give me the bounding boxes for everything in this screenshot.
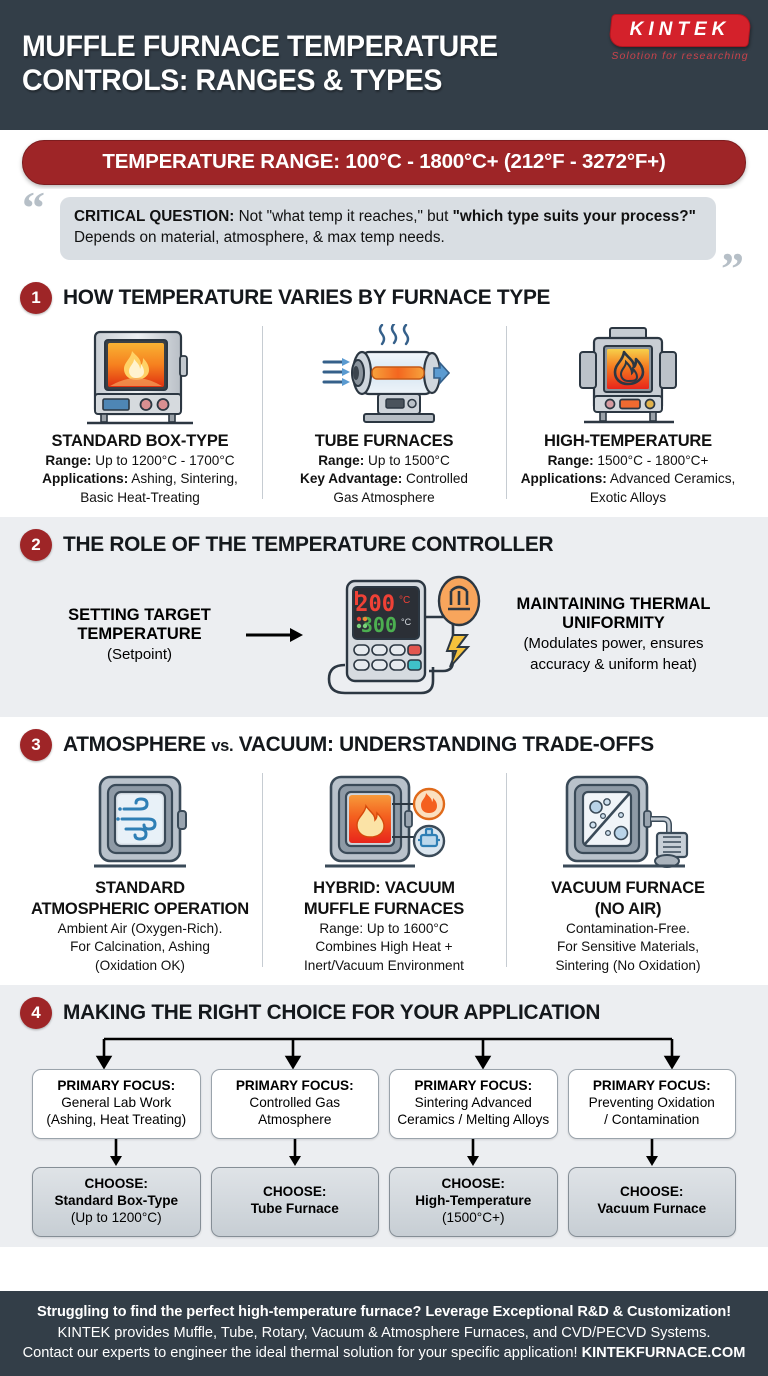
box-heading: CHOOSE: <box>395 1176 552 1193</box>
line-label: Applications: <box>42 471 128 486</box>
box-line1: Preventing Oxidation <box>574 1095 731 1112</box>
svg-text:°C: °C <box>399 595 410 606</box>
card-line: Ambient Air (Oxygen-Rich). <box>28 920 252 938</box>
box-line1: Tube Furnace <box>217 1201 374 1218</box>
section-making-right-choice: 4 MAKING THE RIGHT CHOICE FOR YOUR APPLI… <box>0 985 768 1247</box>
svg-text:°C: °C <box>401 617 412 627</box>
line-value: Ashing, Sintering, <box>128 471 238 486</box>
box-line1: Vacuum Furnace <box>574 1201 731 1218</box>
card-line: Range: 1500°C - 1800°C+ <box>516 452 740 470</box>
section-3-badge: 3 <box>20 729 52 761</box>
down-arrow-icon <box>211 1139 380 1167</box>
card-line: (Oxidation OK) <box>28 957 252 975</box>
section-1-title: HOW TEMPERATURE VARIES BY FURNACE TYPE <box>63 285 550 310</box>
card-line: Basic Heat-Treating <box>28 489 252 507</box>
card-line: For Sensitive Materials, <box>516 938 740 956</box>
card-line: Combines High Heat + <box>272 938 496 956</box>
line-label: Range: <box>45 453 91 468</box>
choose-box[interactable]: CHOOSE: Standard Box-Type (Up to 1200°C) <box>32 1167 201 1237</box>
quote-close-icon: ” <box>721 246 744 292</box>
thermal-uniformity-label: MAINTAINING THERMAL UNIFORMITY (Modulate… <box>496 595 731 674</box>
section-4-header: 4 MAKING THE RIGHT CHOICE FOR YOUR APPLI… <box>20 997 750 1029</box>
primary-focus-box[interactable]: PRIMARY FOCUS: General Lab Work (Ashing,… <box>32 1069 201 1139</box>
temperature-range-banner-wrap: TEMPERATURE RANGE: 100°C - 1800°C+ (212°… <box>0 130 768 189</box>
card-title-line1: STANDARD <box>28 879 252 898</box>
card-line: Sintering (No Oxidation) <box>516 957 740 975</box>
page-title: MUFFLE FURNACE TEMPERATURE CONTROLS: RAN… <box>22 30 498 97</box>
line-label: Range: <box>548 453 594 468</box>
logo-plate: KINTEK <box>608 14 751 47</box>
setpoint-title-line1: SETTING TARGET <box>37 606 242 625</box>
quote-bold2: "which type suits your process?" <box>453 208 696 225</box>
card-line: Key Advantage: Controlled <box>272 470 496 488</box>
footer: Struggling to find the perfect high-temp… <box>0 1291 768 1376</box>
card-title-line2: MUFFLE FURNACES <box>272 900 496 919</box>
primary-focus-box[interactable]: PRIMARY FOCUS: Controlled Gas Atmosphere <box>211 1069 380 1139</box>
line-value: Controlled <box>402 471 468 486</box>
card-line: Applications: Advanced Ceramics, <box>516 470 740 488</box>
primary-focus-box[interactable]: PRIMARY FOCUS: Preventing Oxidation / Co… <box>568 1069 737 1139</box>
line-value: Advanced Ceramics, <box>607 471 735 486</box>
section-2-badge: 2 <box>20 529 52 561</box>
card-line: Inert/Vacuum Environment <box>272 957 496 975</box>
logo-wordmark: KINTEK <box>621 19 739 41</box>
card-line: For Calcination, Ashing <box>28 938 252 956</box>
box-heading: CHOOSE: <box>38 1176 195 1193</box>
box-line1: General Lab Work <box>38 1095 195 1112</box>
vacuum-furnace-icon <box>516 769 740 877</box>
title-part-main: ATMOSPHERE <box>63 732 211 756</box>
critical-question-block: “ ” CRITICAL QUESTION: Not "what temp it… <box>0 189 768 270</box>
infographic-page: MUFFLE FURNACE TEMPERATURE CONTROLS: RAN… <box>0 0 768 1376</box>
line-label: Applications: <box>521 471 607 486</box>
card-standard-atmospheric: STANDARD ATMOSPHERIC OPERATION Ambient A… <box>18 767 262 975</box>
box-line2: (1500°C+) <box>395 1210 552 1227</box>
choose-box[interactable]: CHOOSE: Vacuum Furnace <box>568 1167 737 1237</box>
setpoint-subtitle: (Setpoint) <box>37 646 242 663</box>
quote-text: CRITICAL QUESTION: Not "what temp it rea… <box>60 197 716 260</box>
uniformity-title-line1: MAINTAINING THERMAL <box>496 595 731 614</box>
box-heading: CHOOSE: <box>574 1184 731 1201</box>
card-title: TUBE FURNACES <box>272 432 496 451</box>
section-atmosphere-vs-vacuum: 3 ATMOSPHERE vs. VACUUM: UNDERSTANDING T… <box>0 717 768 985</box>
controller-unit-icon: 200 °C 300 °C <box>312 569 492 701</box>
setpoint-label: SETTING TARGET TEMPERATURE (Setpoint) <box>37 606 242 663</box>
card-title-line2: (NO AIR) <box>516 900 740 919</box>
atmosphere-cards: STANDARD ATMOSPHERIC OPERATION Ambient A… <box>18 767 750 975</box>
line-value: 1500°C - 1800°C+ <box>594 453 709 468</box>
box-heading: PRIMARY FOCUS: <box>574 1078 731 1095</box>
box-heading: CHOOSE: <box>217 1184 374 1201</box>
line-value: Up to 1200°C - 1700°C <box>91 453 234 468</box>
section-4-title: MAKING THE RIGHT CHOICE FOR YOUR APPLICA… <box>63 1000 600 1025</box>
box-furnace-icon <box>28 322 252 430</box>
setpoint-title-line2: TEMPERATURE <box>37 625 242 644</box>
hybrid-vacuum-furnace-icon <box>272 769 496 877</box>
logo-tagline: Solotion for researching <box>610 50 750 62</box>
box-line2: (Ashing, Heat Treating) <box>38 1112 195 1129</box>
card-line: Range: Up to 1500°C <box>272 452 496 470</box>
footer-line2: KINTEK provides Muffle, Tube, Rotary, Va… <box>18 1325 750 1341</box>
card-high-temperature: HIGH-TEMPERATURE Range: 1500°C - 1800°C+… <box>506 320 750 507</box>
section-3-header: 3 ATMOSPHERE vs. VACUUM: UNDERSTANDING T… <box>20 729 750 761</box>
quote-part3: Depends on material, atmosphere, & max t… <box>74 229 445 246</box>
section-furnace-types: 1 HOW TEMPERATURE VARIES BY FURNACE TYPE <box>0 270 768 517</box>
footer-website[interactable]: KINTEKFURNACE.COM <box>582 1345 746 1361</box>
flow-top-connector <box>18 1035 750 1069</box>
box-heading: PRIMARY FOCUS: <box>395 1078 552 1095</box>
primary-focus-row: PRIMARY FOCUS: General Lab Work (Ashing,… <box>32 1069 736 1139</box>
footer-line1: Struggling to find the perfect high-temp… <box>18 1304 750 1320</box>
page-title-line2: CONTROLS: RANGES & TYPES <box>22 64 498 98</box>
tube-furnace-icon <box>272 322 496 430</box>
title-part-vs: vs. <box>211 736 233 755</box>
high-temp-furnace-icon <box>516 322 740 430</box>
card-line: Gas Atmosphere <box>272 489 496 507</box>
box-line1: Controlled Gas <box>217 1095 374 1112</box>
card-tube-furnaces: TUBE FURNACES Range: Up to 1500°C Key Ad… <box>262 320 506 507</box>
choose-flow: CHOOSE: Standard Box-Type (Up to 1200°C)… <box>18 1167 750 1237</box>
card-title-line2: ATMOSPHERIC OPERATION <box>28 900 252 919</box>
section-4-badge: 4 <box>20 997 52 1029</box>
card-line: Applications: Ashing, Sintering, <box>28 470 252 488</box>
box-line2: / Contamination <box>574 1112 731 1129</box>
arrow-right-icon <box>246 627 308 643</box>
primary-focus-box[interactable]: PRIMARY FOCUS: Sintering Advanced Cerami… <box>389 1069 558 1139</box>
card-line: Contamination-Free. <box>516 920 740 938</box>
quote-lead: CRITICAL QUESTION: <box>74 208 234 225</box>
title-part-rest: VACUUM: UNDERSTANDING TRADE-OFFS <box>233 732 654 756</box>
card-line: Range: Up to 1600°C <box>272 920 496 938</box>
card-title-line1: VACUUM FURNACE <box>516 879 740 898</box>
card-title-line1: HYBRID: VACUUM <box>272 879 496 898</box>
box-line1: Sintering Advanced <box>395 1095 552 1112</box>
card-vacuum-furnace: VACUUM FURNACE (NO AIR) Contamination-Fr… <box>506 767 750 975</box>
air-furnace-icon <box>28 769 252 877</box>
section-1-badge: 1 <box>20 282 52 314</box>
card-title: STANDARD BOX-TYPE <box>28 432 252 451</box>
down-arrow-icon <box>568 1139 737 1167</box>
flow-mid-connectors <box>18 1139 750 1167</box>
card-hybrid-vacuum: HYBRID: VACUUM MUFFLE FURNACES Range: Up… <box>262 767 506 975</box>
box-line1: Standard Box-Type <box>38 1193 195 1210</box>
decision-flow: PRIMARY FOCUS: General Lab Work (Ashing,… <box>18 1069 750 1139</box>
section-3-title: ATMOSPHERE vs. VACUUM: UNDERSTANDING TRA… <box>63 732 654 757</box>
footer-line3-text: Contact our experts to engineer the idea… <box>23 1345 582 1361</box>
header: MUFFLE FURNACE TEMPERATURE CONTROLS: RAN… <box>0 0 768 130</box>
branch-arrows-icon <box>18 1035 758 1069</box>
box-line1: High-Temperature <box>395 1193 552 1210</box>
box-heading: PRIMARY FOCUS: <box>217 1078 374 1095</box>
card-title: HIGH-TEMPERATURE <box>516 432 740 451</box>
section-1-header: 1 HOW TEMPERATURE VARIES BY FURNACE TYPE <box>20 282 750 314</box>
box-heading: PRIMARY FOCUS: <box>38 1078 195 1095</box>
box-line2: Ceramics / Melting Alloys <box>395 1112 552 1129</box>
choose-box[interactable]: CHOOSE: High-Temperature (1500°C+) <box>389 1167 558 1237</box>
card-standard-box-type: STANDARD BOX-TYPE Range: Up to 1200°C - … <box>18 320 262 507</box>
temperature-range-banner: TEMPERATURE RANGE: 100°C - 1800°C+ (212°… <box>22 140 746 185</box>
down-arrow-icon <box>32 1139 201 1167</box>
choose-box[interactable]: CHOOSE: Tube Furnace <box>211 1167 380 1237</box>
footer-line3: Contact our experts to engineer the idea… <box>18 1345 750 1361</box>
uniformity-sub-line1: (Modulates power, ensures <box>496 635 731 653</box>
box-line2: Atmosphere <box>217 1112 374 1129</box>
card-line: Exotic Alloys <box>516 489 740 507</box>
down-arrow-icon <box>389 1139 558 1167</box>
line-label: Range: <box>318 453 364 468</box>
furnace-type-cards: STANDARD BOX-TYPE Range: Up to 1200°C - … <box>18 320 750 507</box>
card-line: Range: Up to 1200°C - 1700°C <box>28 452 252 470</box>
section-temperature-controller: 2 THE ROLE OF THE TEMPERATURE CONTROLLER… <box>0 517 768 717</box>
controller-diagram: SETTING TARGET TEMPERATURE (Setpoint) 20… <box>18 567 750 707</box>
choose-row: CHOOSE: Standard Box-Type (Up to 1200°C)… <box>32 1167 736 1237</box>
kintek-logo[interactable]: KINTEK Solotion for researching <box>610 14 750 62</box>
page-title-line1: MUFFLE FURNACE TEMPERATURE <box>22 30 498 64</box>
section-2-title: THE ROLE OF THE TEMPERATURE CONTROLLER <box>63 532 553 557</box>
box-line2: (Up to 1200°C) <box>38 1210 195 1227</box>
uniformity-title-line2: UNIFORMITY <box>496 614 731 633</box>
quote-open-icon: “ <box>22 185 45 231</box>
line-label: Key Advantage: <box>300 471 402 486</box>
section-2-header: 2 THE ROLE OF THE TEMPERATURE CONTROLLER <box>20 529 750 561</box>
quote-part1: Not "what temp it reaches," but <box>234 208 452 225</box>
uniformity-sub-line2: accuracy & uniform heat) <box>496 656 731 674</box>
line-value: Up to 1500°C <box>364 453 450 468</box>
